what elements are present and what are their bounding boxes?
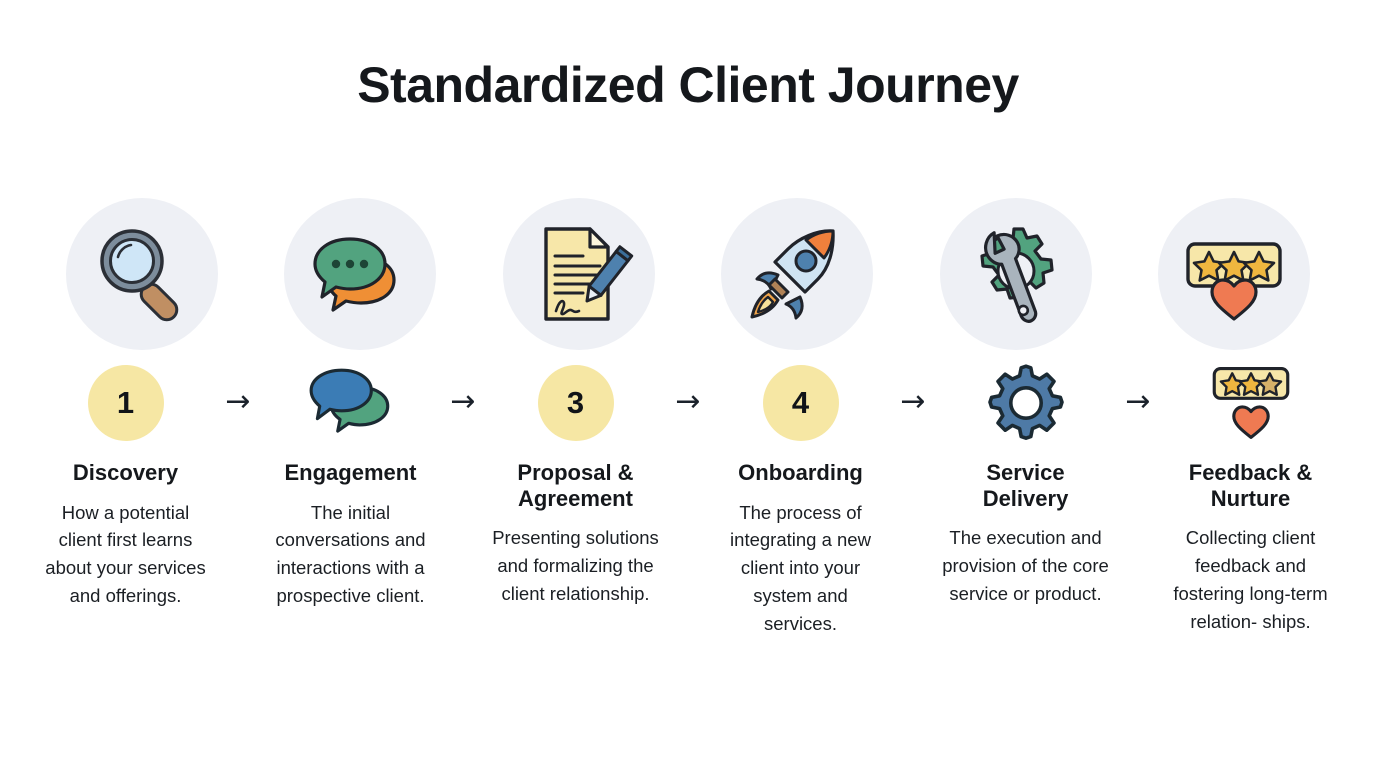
speech-bubbles-dots-icon bbox=[305, 219, 415, 329]
icon-cell-onboarding bbox=[717, 198, 877, 350]
step-description: Presenting solutions and formalizing the… bbox=[490, 524, 661, 607]
step-feedback-nurture[interactable]: Feedback & Nurture Collecting client fee… bbox=[1165, 360, 1336, 635]
arrow-3-to-4: → bbox=[661, 360, 715, 446]
wrench-gear-icon bbox=[961, 219, 1071, 329]
step-description: The execution and provision of the core … bbox=[940, 524, 1111, 607]
arrow-4-to-5: → bbox=[886, 360, 940, 446]
step-description: Collecting client feedback and fostering… bbox=[1169, 524, 1333, 635]
step-title: Feedback & Nurture bbox=[1189, 460, 1313, 511]
icon-cell-discovery bbox=[62, 198, 222, 350]
icon-cell-proposal bbox=[499, 198, 659, 350]
steps-row: 1 Discovery How a potential client first… bbox=[40, 360, 1336, 637]
step-title: Service Delivery bbox=[983, 460, 1069, 511]
magnifier-icon bbox=[87, 219, 197, 329]
arrow-2-to-3: → bbox=[436, 360, 490, 446]
step-number-badge: 3 bbox=[538, 365, 614, 441]
gear-icon bbox=[983, 363, 1069, 443]
rocket-icon bbox=[742, 219, 852, 329]
step-description: The initial conversations and interactio… bbox=[265, 499, 436, 610]
arrow-1-to-2: → bbox=[211, 360, 265, 446]
step-badge: 1 bbox=[88, 360, 164, 446]
icon-cell-feedback bbox=[1154, 198, 1314, 350]
icon-row bbox=[62, 198, 1314, 350]
arrow-5-to-6: → bbox=[1111, 360, 1165, 446]
stars-heart-icon bbox=[1208, 363, 1294, 443]
step-engagement[interactable]: Engagement The initial conversations and… bbox=[265, 360, 436, 610]
step-number-badge: 4 bbox=[763, 365, 839, 441]
stars-heart-rating-icon bbox=[1179, 219, 1289, 329]
step-description: How a potential client first learns abou… bbox=[40, 499, 211, 610]
step-title: Onboarding bbox=[738, 460, 863, 486]
step-badge: 4 bbox=[763, 360, 839, 446]
signed-document-pencil-icon bbox=[524, 219, 634, 329]
step-service-delivery[interactable]: Service Delivery The execution and provi… bbox=[940, 360, 1111, 608]
step-badge bbox=[983, 360, 1069, 446]
step-description: The process of integrating a new client … bbox=[715, 499, 886, 638]
icon-cell-engagement bbox=[280, 198, 440, 350]
step-badge bbox=[308, 360, 394, 446]
step-proposal-agreement[interactable]: 3 Proposal & Agreement Presenting soluti… bbox=[490, 360, 661, 608]
step-number-badge: 1 bbox=[88, 365, 164, 441]
icon-cell-service-delivery bbox=[936, 198, 1096, 350]
page-title: Standardized Client Journey bbox=[0, 0, 1376, 113]
step-badge bbox=[1208, 360, 1294, 446]
step-title: Proposal & Agreement bbox=[517, 460, 633, 511]
step-badge: 3 bbox=[538, 360, 614, 446]
step-onboarding[interactable]: 4 Onboarding The process of integrating … bbox=[715, 360, 886, 637]
step-title: Discovery bbox=[73, 460, 178, 486]
step-discovery[interactable]: 1 Discovery How a potential client first… bbox=[40, 360, 211, 610]
step-title: Engagement bbox=[284, 460, 416, 486]
client-journey-infographic: Standardized Client Journey bbox=[0, 0, 1376, 768]
speech-bubbles-icon bbox=[308, 363, 394, 443]
